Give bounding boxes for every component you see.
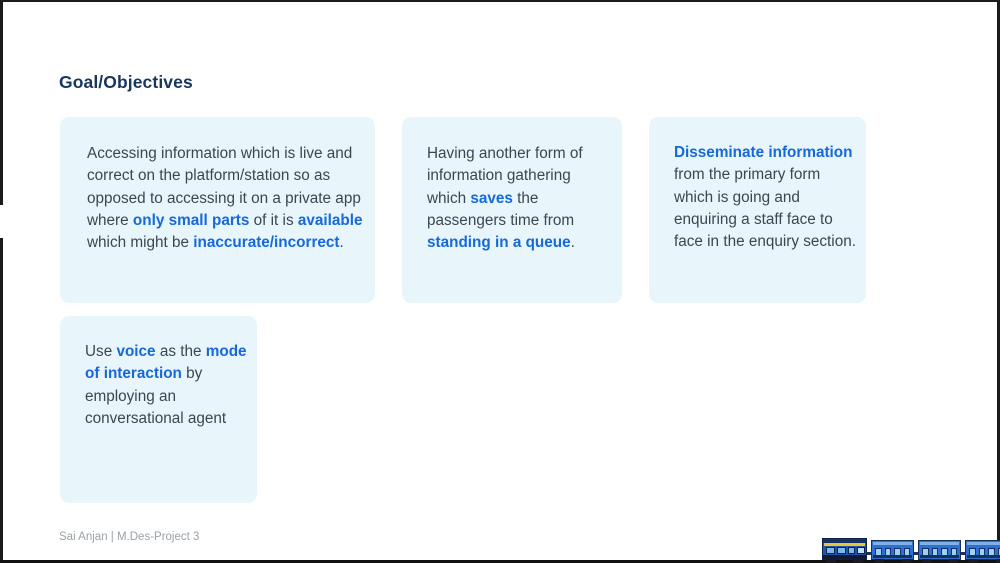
coach-stripe-top: [967, 542, 1000, 545]
footer-credit: Sai Anjan | M.Des-Project 3: [59, 531, 199, 543]
train-coach: [918, 540, 961, 560]
objective-card-4-text: Use voice as the mode of interaction by …: [85, 341, 247, 430]
objective-card-1: Accessing information which is live and …: [60, 117, 375, 303]
objective-card-3-text: Disseminate information from the primary…: [674, 142, 856, 253]
coach-bogie: [902, 559, 911, 563]
train-illustration: [820, 527, 1000, 563]
locomotive-bogie: [826, 559, 836, 563]
locomotive-cab-window: [857, 547, 865, 554]
coach-bogie: [949, 559, 958, 563]
coach-bogie: [922, 559, 931, 563]
page-title: Goal/Objectives: [59, 72, 193, 93]
coach-bogie: [996, 559, 1000, 563]
locomotive-accent-stripe: [824, 543, 865, 546]
objective-card-2-text: Having another form of information gathe…: [427, 143, 612, 254]
locomotive-window: [848, 547, 855, 554]
train-coach: [871, 540, 914, 560]
objective-card-4: Use voice as the mode of interaction by …: [60, 316, 257, 503]
slide-canvas: Goal/Objectives Accessing information wh…: [0, 0, 1000, 563]
locomotive-bogie: [853, 559, 863, 563]
locomotive-window: [837, 547, 846, 554]
train-coach: [965, 540, 1000, 560]
coach-stripe-bottom: [920, 555, 959, 558]
slide-border-left: [0, 0, 3, 205]
coach-bogie: [875, 559, 884, 563]
train-locomotive: [822, 538, 867, 560]
coach-stripe-bottom: [873, 555, 912, 558]
slide-border-top: [0, 0, 1000, 2]
slide-border-left-lower: [0, 238, 3, 563]
objective-card-1-text: Accessing information which is live and …: [87, 143, 363, 254]
objective-card-2: Having another form of information gathe…: [402, 117, 622, 303]
objective-card-3: Disseminate information from the primary…: [649, 117, 866, 303]
coach-stripe-bottom: [967, 555, 1000, 558]
coach-stripe-top: [873, 542, 912, 545]
coach-bogie: [969, 559, 978, 563]
locomotive-window: [826, 547, 835, 554]
coach-stripe-top: [920, 542, 959, 545]
